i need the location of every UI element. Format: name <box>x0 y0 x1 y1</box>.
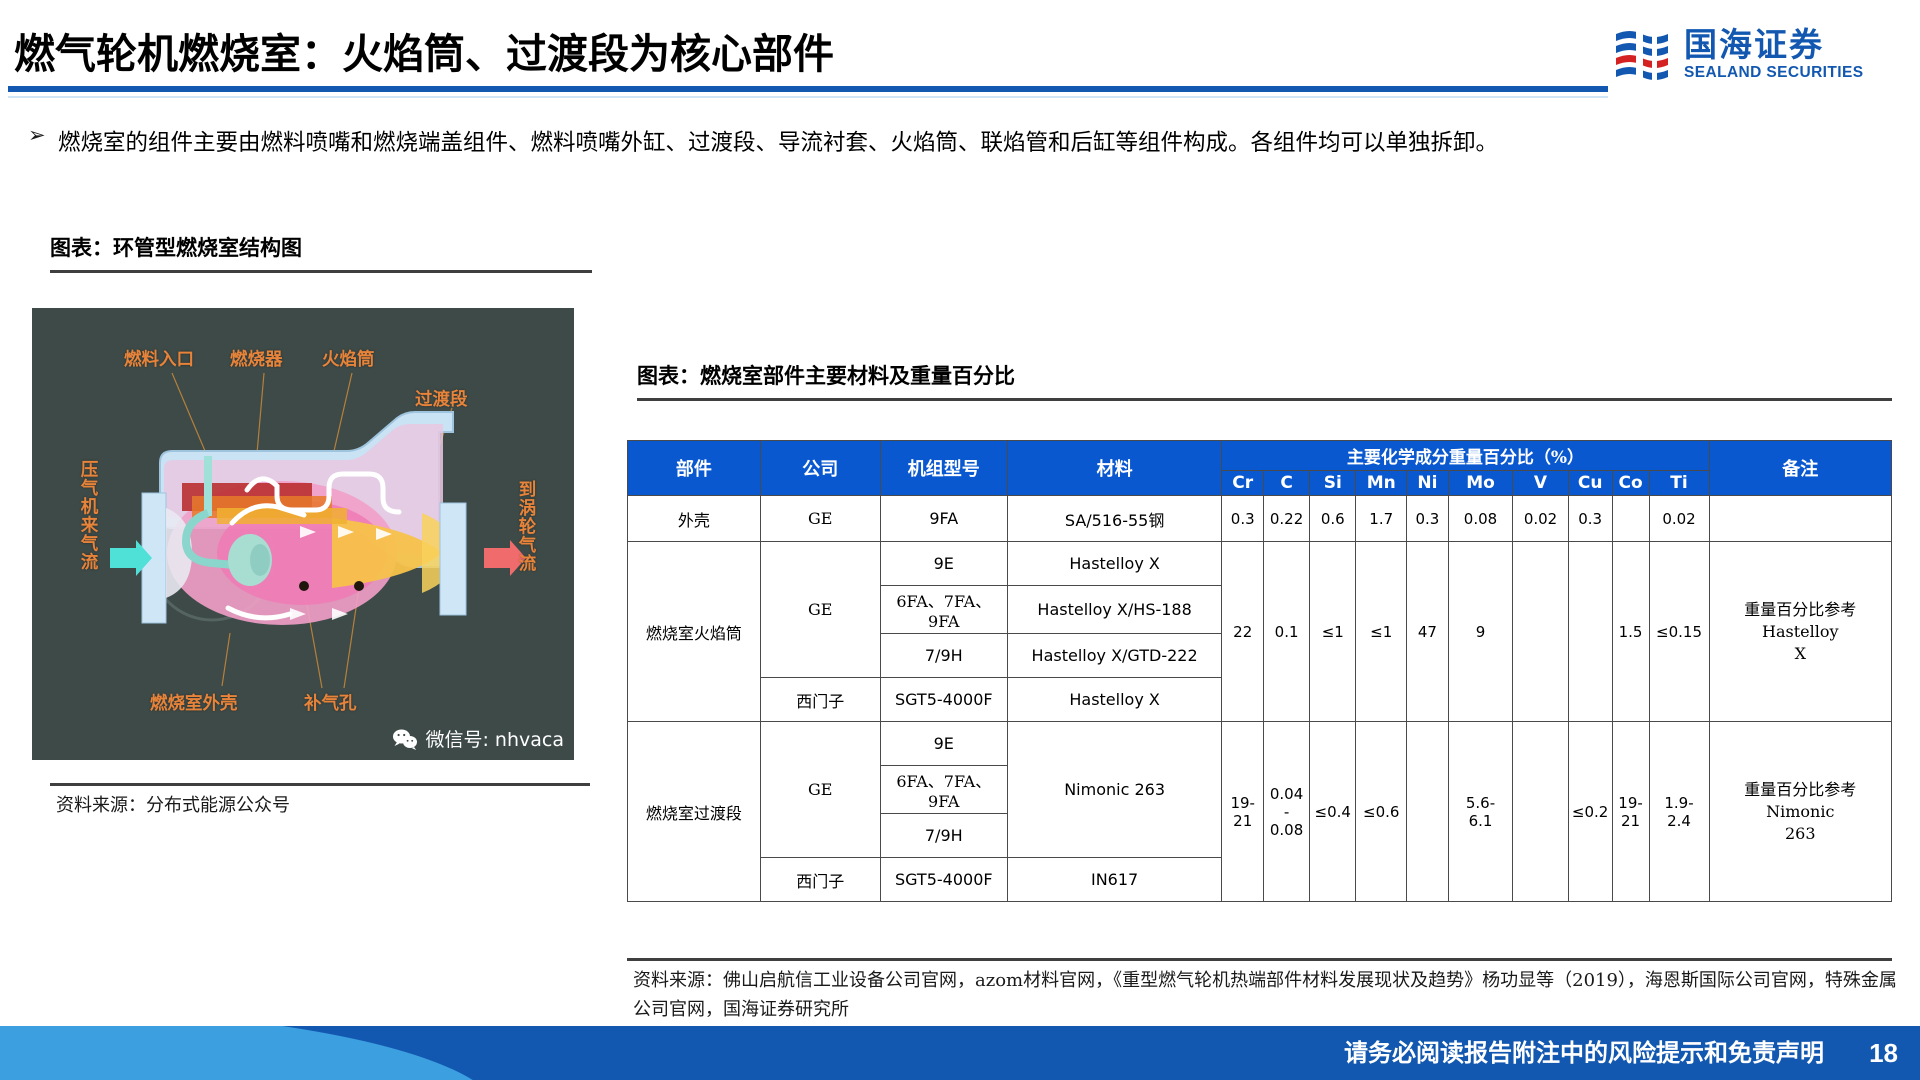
materials-table: 部件 公司 机组型号 材料 主要化学成分重量百分比（%） 备注 Cr C Si … <box>627 440 1892 902</box>
right-figure-caption: 图表：燃烧室部件主要材料及重量百分比 <box>637 360 1892 398</box>
combustor-diagram-svg: 筑 <box>32 308 574 760</box>
cell-model: 9FA <box>880 496 1007 542</box>
diagram-label-transition: 过渡段 <box>415 386 468 411</box>
cell-part: 燃烧室过渡段 <box>628 722 761 902</box>
cell-element-value: 1.7 <box>1356 496 1407 542</box>
materials-table-body: 外壳GE9FASA/516-55钢0.30.220.61.70.30.080.0… <box>628 496 1892 902</box>
th-el-v: V <box>1513 471 1568 496</box>
bullet-arrow-icon: ➢ <box>22 118 58 152</box>
diagram-label-air-holes: 补气孔 <box>304 690 357 715</box>
wechat-watermark: 微信号: nhvaca <box>392 725 564 752</box>
cell-element-value: ≤0.15 <box>1649 542 1709 722</box>
wechat-id-text: 微信号: nhvaca <box>425 725 564 752</box>
cell-element-value: 0.08 <box>1448 496 1513 542</box>
cell-model: 7/9H <box>880 634 1007 678</box>
brand-logo: 国海证券 SEALAND SECURITIES <box>1612 18 1902 92</box>
left-caption-divider <box>50 270 592 273</box>
materials-table-wrapper: 部件 公司 机组型号 材料 主要化学成分重量百分比（%） 备注 Cr C Si … <box>627 440 1892 902</box>
cell-part: 燃烧室火焰筒 <box>628 542 761 722</box>
bullet-block: ➢ 燃烧室的组件主要由燃料喷嘴和燃烧端盖组件、燃料喷嘴外缸、过渡段、导流衬套、火… <box>22 118 1892 168</box>
cell-model: 9E <box>880 722 1007 766</box>
cell-element-value: 9 <box>1448 542 1513 722</box>
cell-model: 7/9H <box>880 814 1007 858</box>
th-el-c: C <box>1264 471 1310 496</box>
table-header-row-top: 部件 公司 机组型号 材料 主要化学成分重量百分比（%） 备注 <box>628 441 1892 471</box>
cell-company: GE <box>760 496 880 542</box>
cell-element-value: 0.3 <box>1407 496 1449 542</box>
bullet-text: 燃烧室的组件主要由燃料喷嘴和燃烧端盖组件、燃料喷嘴外缸、过渡段、导流衬套、火焰筒… <box>58 118 1892 168</box>
cell-element-value <box>1513 722 1568 902</box>
cell-company: GE <box>760 722 880 858</box>
cell-element-value: 0.6 <box>1310 496 1356 542</box>
cell-element-value <box>1568 542 1612 722</box>
th-note: 备注 <box>1709 441 1891 496</box>
th-model: 机组型号 <box>880 441 1007 496</box>
cell-element-value: 22 <box>1222 542 1264 722</box>
page-number: 18 <box>1869 1026 1898 1080</box>
th-el-ti: Ti <box>1649 471 1709 496</box>
cell-company: GE <box>760 542 880 678</box>
logo-text-en: SEALAND SECURITIES <box>1684 64 1863 82</box>
cell-element-value: ≤1 <box>1310 542 1356 722</box>
th-el-cu: Cu <box>1568 471 1612 496</box>
th-composition-group: 主要化学成分重量百分比（%） <box>1222 441 1709 471</box>
right-source-divider <box>627 958 1892 961</box>
cell-model: SGT5-4000F <box>880 678 1007 722</box>
right-source-text: 资料来源：佛山启航信工业设备公司官网，azom材料官网，《重型燃气轮机热端部件材… <box>633 966 1903 1024</box>
cell-part: 外壳 <box>628 496 761 542</box>
cell-element-value: ≤1 <box>1356 542 1407 722</box>
right-figure-header: 图表：燃烧室部件主要材料及重量百分比 <box>637 360 1892 401</box>
th-material: 材料 <box>1007 441 1222 496</box>
cell-note: 重量百分比参考HastelloyX <box>1709 542 1891 722</box>
cell-element-value: 0.1 <box>1264 542 1310 722</box>
cell-element-value: 19-21 <box>1222 722 1264 902</box>
cell-model: SGT5-4000F <box>880 858 1007 902</box>
cell-element-value: 5.6-6.1 <box>1448 722 1513 902</box>
table-row: 燃烧室过渡段GE9ENimonic 26319-210.04-0.08≤0.4≤… <box>628 722 1892 766</box>
th-el-ni: Ni <box>1407 471 1449 496</box>
cell-material: Hastelloy X <box>1007 678 1222 722</box>
left-source-text: 资料来源：分布式能源公众号 <box>56 792 616 820</box>
cell-element-value: 1.5 <box>1612 542 1649 722</box>
header-divider-light <box>8 96 1608 98</box>
th-el-cr: Cr <box>1222 471 1264 496</box>
cell-note <box>1709 496 1891 542</box>
cell-material: Hastelloy X <box>1007 542 1222 586</box>
sealand-logo-icon <box>1612 24 1674 86</box>
cell-element-value: 0.02 <box>1649 496 1709 542</box>
diagram-label-to-turbine: 到涡轮气流 <box>514 480 539 573</box>
left-figure-caption: 图表：环管型燃烧室结构图 <box>50 232 592 270</box>
diagram-label-fuel-inlet: 燃料入口 <box>124 346 194 371</box>
cell-element-value: 0.02 <box>1513 496 1568 542</box>
cell-material: Hastelloy X/GTD-222 <box>1007 634 1222 678</box>
cell-element-value <box>1407 722 1449 902</box>
th-el-mo: Mo <box>1448 471 1513 496</box>
footer-disclaimer: 请务必阅读报告附注中的风险提示和免责声明 <box>1344 1026 1824 1080</box>
header-divider <box>8 86 1608 92</box>
cell-material: SA/516-55钢 <box>1007 496 1222 542</box>
cell-element-value: 47 <box>1407 542 1449 722</box>
cell-element-value: 1.9-2.4 <box>1649 722 1709 902</box>
cell-element-value: 0.04-0.08 <box>1264 722 1310 902</box>
cell-model: 9E <box>880 542 1007 586</box>
combustor-diagram-image: 筑 <box>32 308 574 760</box>
cell-element-value: 19-21 <box>1612 722 1649 902</box>
cell-element-value: 0.3 <box>1222 496 1264 542</box>
table-row: 燃烧室火焰筒GE9EHastelloy X220.1≤1≤14791.5≤0.1… <box>628 542 1892 586</box>
th-el-si: Si <box>1310 471 1356 496</box>
cell-element-value: ≤0.4 <box>1310 722 1356 902</box>
cell-company: 西门子 <box>760 678 880 722</box>
right-caption-divider <box>637 398 1892 401</box>
wechat-icon <box>392 728 418 750</box>
left-figure-header: 图表：环管型燃烧室结构图 <box>50 232 592 273</box>
diagram-label-liner: 火焰筒 <box>322 346 375 371</box>
slide-header: 燃气轮机燃烧室：火焰筒、过渡段为核心部件 国海证券 SEALAND SECURI… <box>0 0 1920 112</box>
slide-footer: 请务必阅读报告附注中的风险提示和免责声明 18 <box>0 1026 1920 1080</box>
cell-element-value <box>1612 496 1649 542</box>
th-el-mn: Mn <box>1356 471 1407 496</box>
diagram-label-casing: 燃烧室外壳 <box>150 690 238 715</box>
cell-element-value: ≤0.2 <box>1568 722 1612 902</box>
diagram-label-compressor-air: 压气机来气流 <box>76 460 101 571</box>
cell-model: 6FA、7FA、9FA <box>880 766 1007 814</box>
diagram-label-burner: 燃烧器 <box>230 346 283 371</box>
page-title: 燃气轮机燃烧室：火焰筒、过渡段为核心部件 <box>14 20 834 80</box>
th-part: 部件 <box>628 441 761 496</box>
cell-material: Nimonic 263 <box>1007 722 1222 858</box>
cell-element-value: 0.22 <box>1264 496 1310 542</box>
th-company: 公司 <box>760 441 880 496</box>
cell-material: Hastelloy X/HS-188 <box>1007 586 1222 634</box>
th-el-co: Co <box>1612 471 1649 496</box>
cell-model: 6FA、7FA、9FA <box>880 586 1007 634</box>
left-source-divider <box>50 783 590 786</box>
logo-text-cn: 国海证券 <box>1684 28 1863 63</box>
cell-element-value <box>1513 542 1568 722</box>
cell-note: 重量百分比参考Nimonic263 <box>1709 722 1891 902</box>
cell-company: 西门子 <box>760 858 880 902</box>
table-row: 外壳GE9FASA/516-55钢0.30.220.61.70.30.080.0… <box>628 496 1892 542</box>
cell-material: IN617 <box>1007 858 1222 902</box>
cell-element-value: 0.3 <box>1568 496 1612 542</box>
cell-element-value: ≤0.6 <box>1356 722 1407 902</box>
